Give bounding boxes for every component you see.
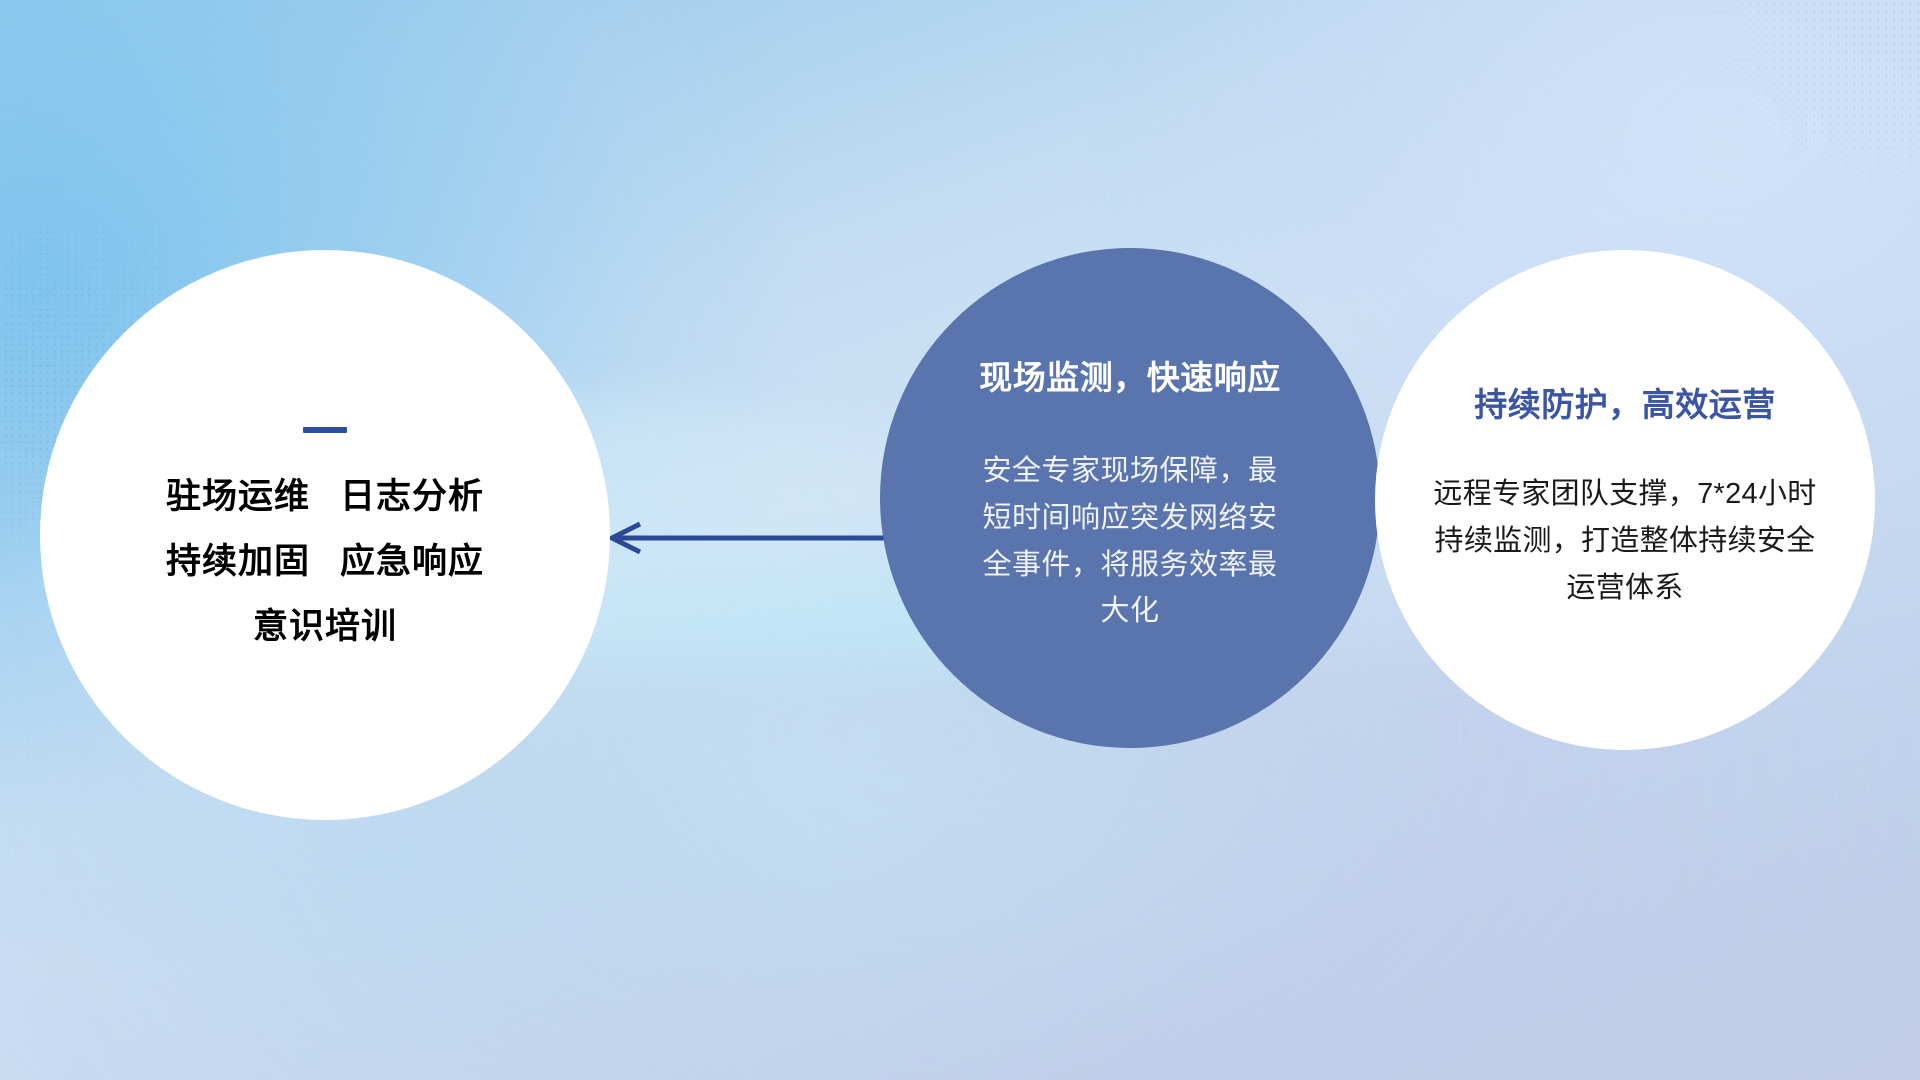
onsite-monitoring-body: 安全专家现场保障，最短时间响应突发网络安全事件，将服务效率最大化 [975,448,1285,636]
continuous-protection-heading: 持续防护，高效运营 [1474,388,1776,421]
accent-divider-bar [303,427,347,433]
slide-canvas: 驻场运维日志分析 持续加固应急响应 意识培训 现场监测，快速响应 安全专家现场保… [0,0,1920,1080]
capability-label: 日志分析 [340,477,484,516]
service-capabilities-circle: 驻场运维日志分析 持续加固应急响应 意识培训 [40,250,610,820]
capability-label: 驻场运维 [166,477,310,516]
capability-label: 持续加固 [166,542,310,581]
onsite-monitoring-circle: 现场监测，快速响应 安全专家现场保障，最短时间响应突发网络安全事件，将服务效率最… [880,248,1380,748]
capability-label: 应急响应 [340,542,484,581]
capability-row: 持续加固应急响应 [166,544,484,579]
capability-row-last: 意识培训 [253,609,397,644]
onsite-monitoring-heading: 现场监测，快速响应 [979,361,1281,394]
capability-row: 驻场运维日志分析 [166,479,484,514]
arrow-left-icon [600,518,900,558]
continuous-protection-circle: 持续防护，高效运营 远程专家团队支撑，7*24小时持续监测，打造整体持续安全运营… [1375,250,1875,750]
continuous-protection-body: 远程专家团队支撑，7*24小时持续监测，打造整体持续安全运营体系 [1425,471,1825,612]
capability-list: 驻场运维日志分析 持续加固应急响应 意识培训 [166,479,484,644]
